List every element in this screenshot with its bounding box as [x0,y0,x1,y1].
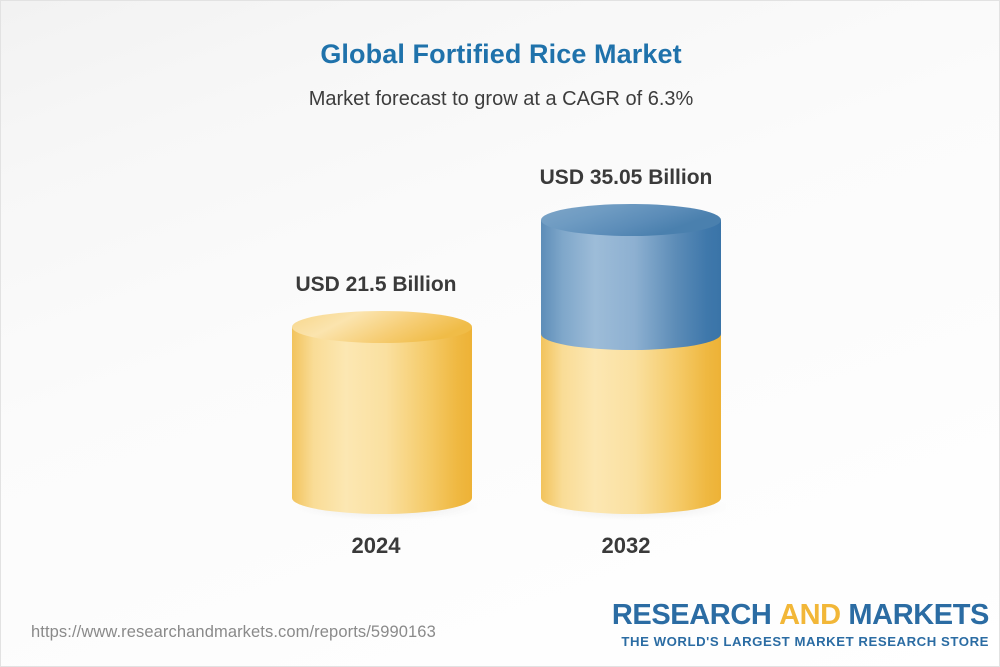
report-url[interactable]: https://www.researchandmarkets.com/repor… [31,623,436,642]
plot-area: USD 21.5 Billion [1,1,1000,601]
value-label-2024: USD 21.5 Billion [206,273,546,297]
logo-word-markets: MARKETS [848,599,989,631]
value-label-2032: USD 35.05 Billion [456,166,796,190]
research-and-markets-logo[interactable]: RESEARCH AND MARKETS THE WORLD'S LARGEST… [612,601,989,648]
logo-wordmark: RESEARCH AND MARKETS [612,601,989,630]
chart-canvas: Global Fortified Rice Market Market fore… [0,0,1000,667]
category-label-2032: 2032 [456,533,796,559]
logo-tagline: THE WORLD'S LARGEST MARKET RESEARCH STOR… [612,635,989,648]
cylinder-bar-2024[interactable] [287,311,477,526]
logo-word-and: AND [779,599,841,631]
logo-word-research: RESEARCH [612,599,772,631]
cylinder-bar-2032[interactable] [536,196,726,526]
